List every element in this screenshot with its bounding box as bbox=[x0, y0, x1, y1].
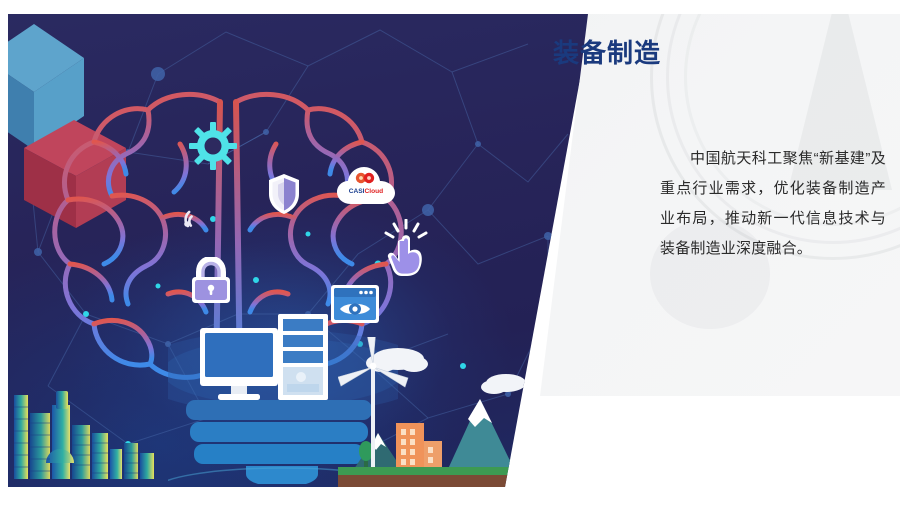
casicloud-wordmark: CASICloud bbox=[349, 188, 383, 195]
cloud-shape bbox=[366, 348, 526, 394]
mountains bbox=[354, 399, 592, 469]
office-building bbox=[396, 423, 442, 469]
cloud-icon: CASICloud bbox=[335, 164, 397, 208]
shield-icon bbox=[267, 172, 301, 216]
wifi-icon bbox=[178, 202, 206, 230]
lock-icon bbox=[190, 257, 232, 305]
gear-icon bbox=[189, 122, 237, 170]
hand-cursor-icon bbox=[382, 219, 430, 277]
page-title: 装备制造 bbox=[553, 38, 661, 69]
server-rack bbox=[278, 314, 328, 400]
slide-root: CASICloud bbox=[0, 0, 900, 510]
grass-strip bbox=[338, 467, 592, 475]
city-skyline bbox=[8, 367, 208, 487]
soil-strip bbox=[338, 475, 592, 487]
illustration-panel: CASICloud bbox=[8, 14, 592, 487]
body-paragraph: 中国航天科工聚焦“新基建”及重点行业需求，优化装备制造产业布局，推动新一代信息技… bbox=[660, 144, 886, 264]
